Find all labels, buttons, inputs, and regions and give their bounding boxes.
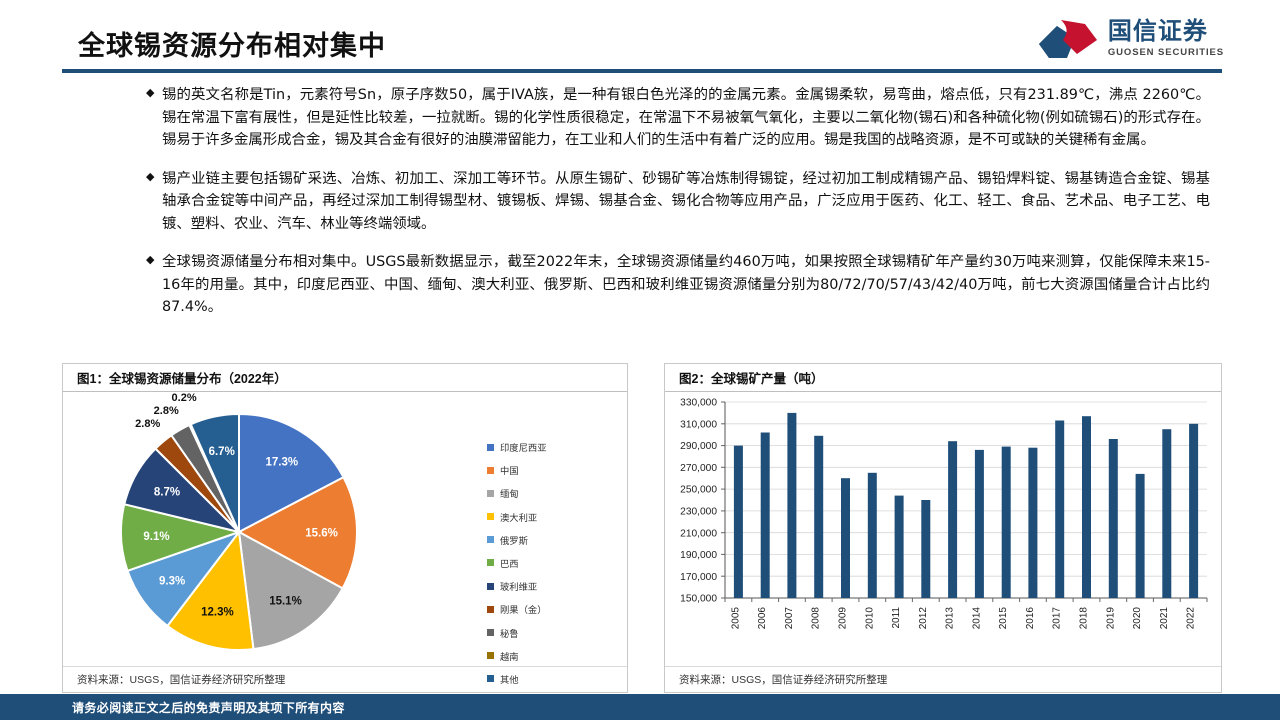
bar bbox=[761, 433, 770, 599]
x-tick-label: 2014 bbox=[971, 607, 982, 630]
bar bbox=[787, 413, 796, 598]
logo-text-en: GUOSEN SECURITIES bbox=[1108, 48, 1224, 58]
legend-swatch-icon bbox=[487, 467, 494, 474]
legend-swatch-icon bbox=[487, 536, 494, 543]
legend-swatch-icon bbox=[487, 559, 494, 566]
y-tick-label: 270,000 bbox=[680, 463, 717, 474]
bar bbox=[1002, 447, 1011, 598]
logo-text-cn: 国信证券 bbox=[1108, 20, 1224, 44]
pie-legend-label: 缅甸 bbox=[500, 486, 519, 500]
pie-legend-item: 缅甸 bbox=[487, 486, 617, 500]
x-tick-label: 2013 bbox=[945, 607, 956, 630]
page-title: 全球锡资源分布相对集中 bbox=[78, 24, 386, 63]
paragraph-2-text: 锡产业链主要包括锡矿采选、冶炼、初加工、深加工等环节。从原生锡矿、砂锡矿等冶炼制… bbox=[162, 168, 1210, 236]
x-tick-label: 2012 bbox=[918, 607, 929, 630]
bar bbox=[1082, 416, 1091, 598]
legend-swatch-icon bbox=[487, 490, 494, 497]
x-tick-label: 2019 bbox=[1105, 607, 1116, 630]
x-tick-label: 2005 bbox=[730, 607, 741, 630]
y-tick-label: 230,000 bbox=[680, 507, 717, 518]
figure-1-title: 图1：全球锡资源储量分布（2022年） bbox=[63, 364, 627, 392]
bar bbox=[1189, 424, 1198, 598]
bar bbox=[1162, 429, 1171, 598]
paragraph-1: ◆ 锡的英文名称是Tin，元素符号Sn，原子序数50，属于IVA族，是一种有银白… bbox=[0, 84, 1280, 152]
pie-chart-svg: 17.3%15.6%15.1%12.3%9.3%9.1%8.7%2.8%2.8%… bbox=[69, 392, 429, 668]
figure-1-canvas: 17.3%15.6%15.1%12.3%9.3%9.1%8.7%2.8%2.8%… bbox=[63, 392, 627, 666]
bar bbox=[895, 496, 904, 598]
x-tick-label: 2017 bbox=[1052, 607, 1063, 630]
bar bbox=[868, 473, 877, 598]
x-tick-label: 2011 bbox=[891, 607, 902, 629]
y-tick-label: 330,000 bbox=[680, 398, 717, 409]
slide-header: 全球锡资源分布相对集中 国信证券 GUOSEN SECURITIES bbox=[0, 0, 1280, 76]
y-tick-label: 310,000 bbox=[680, 419, 717, 430]
pie-legend-item: 中国 bbox=[487, 463, 617, 477]
x-tick-label: 2007 bbox=[784, 607, 795, 630]
slide: 全球锡资源分布相对集中 国信证券 GUOSEN SECURITIES ◆ 锡的英… bbox=[0, 0, 1280, 720]
bar bbox=[734, 446, 743, 598]
legend-swatch-icon bbox=[487, 606, 494, 613]
pie-legend-label: 俄罗斯 bbox=[500, 533, 528, 547]
bar bbox=[841, 478, 850, 598]
figure-2-panel: 图2：全球锡矿产量（吨） 150,000170,000190,000210,00… bbox=[664, 363, 1222, 693]
y-tick-label: 170,000 bbox=[680, 572, 717, 583]
pie-legend-label: 澳大利亚 bbox=[500, 510, 537, 524]
pie-legend-item: 玻利维亚 bbox=[487, 579, 617, 593]
bar bbox=[1109, 439, 1118, 598]
pie-slice-label: 0.2% bbox=[172, 392, 197, 404]
x-tick-label: 2006 bbox=[757, 607, 768, 630]
figure-1-panel: 图1：全球锡资源储量分布（2022年） 17.3%15.6%15.1%12.3%… bbox=[62, 363, 628, 693]
slide-footer: 请务必阅读正文之后的免责声明及其项下所有内容 bbox=[0, 694, 1280, 720]
legend-swatch-icon bbox=[487, 629, 494, 636]
x-tick-label: 2021 bbox=[1159, 607, 1170, 630]
figure-2-title: 图2：全球锡矿产量（吨） bbox=[665, 364, 1221, 392]
bar bbox=[814, 436, 823, 598]
brand-logo: 国信证券 GUOSEN SECURITIES bbox=[1037, 18, 1224, 60]
bar bbox=[1136, 474, 1145, 598]
bar bbox=[948, 441, 957, 598]
diamond-bullet-icon: ◆ bbox=[146, 88, 154, 99]
pie-legend-item: 刚果（金） bbox=[487, 602, 617, 616]
y-tick-label: 150,000 bbox=[680, 594, 717, 605]
pie-legend-item: 巴西 bbox=[487, 556, 617, 570]
pie-legend-item: 印度尼西亚 bbox=[487, 440, 617, 454]
x-tick-label: 2018 bbox=[1079, 607, 1090, 630]
x-tick-label: 2016 bbox=[1025, 607, 1036, 630]
paragraph-3-text: 全球锡资源储量分布相对集中。USGS最新数据显示，截至2022年末，全球锡资源储… bbox=[162, 251, 1210, 319]
footer-disclaimer: 请务必阅读正文之后的免责声明及其项下所有内容 bbox=[72, 699, 345, 716]
pie-slice-label: 15.6% bbox=[305, 528, 338, 540]
x-tick-label: 2022 bbox=[1186, 607, 1197, 630]
y-tick-label: 290,000 bbox=[680, 441, 717, 452]
pie-legend-label: 中国 bbox=[500, 463, 519, 477]
paragraph-3: ◆ 全球锡资源储量分布相对集中。USGS最新数据显示，截至2022年末，全球锡资… bbox=[0, 251, 1280, 319]
pie-legend-item: 俄罗斯 bbox=[487, 533, 617, 547]
diamond-bullet-icon: ◆ bbox=[146, 172, 154, 183]
pie-legend-label: 秘鲁 bbox=[500, 626, 519, 640]
legend-swatch-icon bbox=[487, 444, 494, 451]
bar bbox=[1055, 421, 1064, 599]
y-tick-label: 210,000 bbox=[680, 528, 717, 539]
pie-legend-label: 印度尼西亚 bbox=[500, 440, 547, 454]
x-tick-label: 2015 bbox=[998, 607, 1009, 630]
pie-legend-item: 澳大利亚 bbox=[487, 510, 617, 524]
x-tick-label: 2008 bbox=[811, 607, 822, 630]
pie-chart: 17.3%15.6%15.1%12.3%9.3%9.1%8.7%2.8%2.8%… bbox=[69, 392, 429, 668]
figure-2-canvas: 150,000170,000190,000210,000230,000250,0… bbox=[665, 392, 1221, 666]
legend-swatch-icon bbox=[487, 583, 494, 590]
bar-chart: 150,000170,000190,000210,000230,000250,0… bbox=[665, 394, 1223, 668]
bar bbox=[975, 450, 984, 598]
pie-slice-label: 2.8% bbox=[135, 418, 160, 430]
pie-chart-legend: 印度尼西亚中国缅甸澳大利亚俄罗斯巴西玻利维亚刚果（金）秘鲁越南其他 bbox=[487, 440, 617, 686]
pie-slice-label: 15.1% bbox=[269, 595, 302, 607]
pie-slice-label: 9.1% bbox=[143, 531, 169, 543]
pie-legend-item: 越南 bbox=[487, 649, 617, 663]
pie-legend-item: 秘鲁 bbox=[487, 626, 617, 640]
paragraph-1-text: 锡的英文名称是Tin，元素符号Sn，原子序数50，属于IVA族，是一种有银白色光… bbox=[162, 84, 1210, 152]
pie-legend-label: 巴西 bbox=[500, 556, 519, 570]
legend-swatch-icon bbox=[487, 652, 494, 659]
pie-legend-label: 刚果（金） bbox=[500, 602, 547, 616]
header-divider bbox=[62, 69, 1222, 73]
pie-slice-label: 2.8% bbox=[154, 405, 179, 417]
x-tick-label: 2010 bbox=[864, 607, 875, 630]
figure-1-source: 资料来源：USGS，国信证券经济研究所整理 bbox=[63, 666, 627, 692]
pie-legend-label: 越南 bbox=[500, 649, 519, 663]
pie-slice-label: 17.3% bbox=[265, 456, 298, 468]
diamond-bullet-icon: ◆ bbox=[146, 255, 154, 266]
x-tick-label: 2020 bbox=[1132, 607, 1143, 630]
guosen-logo-icon bbox=[1037, 18, 1099, 60]
bar bbox=[1028, 448, 1037, 598]
pie-slice-label: 8.7% bbox=[154, 487, 180, 499]
pie-slice-label: 6.7% bbox=[209, 446, 235, 458]
y-tick-label: 250,000 bbox=[680, 485, 717, 496]
pie-slice-label: 12.3% bbox=[201, 607, 234, 619]
x-tick-label: 2009 bbox=[838, 607, 849, 630]
figure-2-source: 资料来源：USGS，国信证券经济研究所整理 bbox=[665, 666, 1221, 692]
y-tick-label: 190,000 bbox=[680, 550, 717, 561]
bar-chart-svg: 150,000170,000190,000210,000230,000250,0… bbox=[665, 394, 1223, 668]
pie-slice-label: 9.3% bbox=[159, 576, 185, 588]
pie-legend-label: 玻利维亚 bbox=[500, 579, 537, 593]
legend-swatch-icon bbox=[487, 513, 494, 520]
paragraph-2: ◆ 锡产业链主要包括锡矿采选、冶炼、初加工、深加工等环节。从原生锡矿、砂锡矿等冶… bbox=[0, 168, 1280, 236]
bar bbox=[921, 500, 930, 598]
body-content: ◆ 锡的英文名称是Tin，元素符号Sn，原子序数50，属于IVA族，是一种有银白… bbox=[0, 84, 1280, 335]
